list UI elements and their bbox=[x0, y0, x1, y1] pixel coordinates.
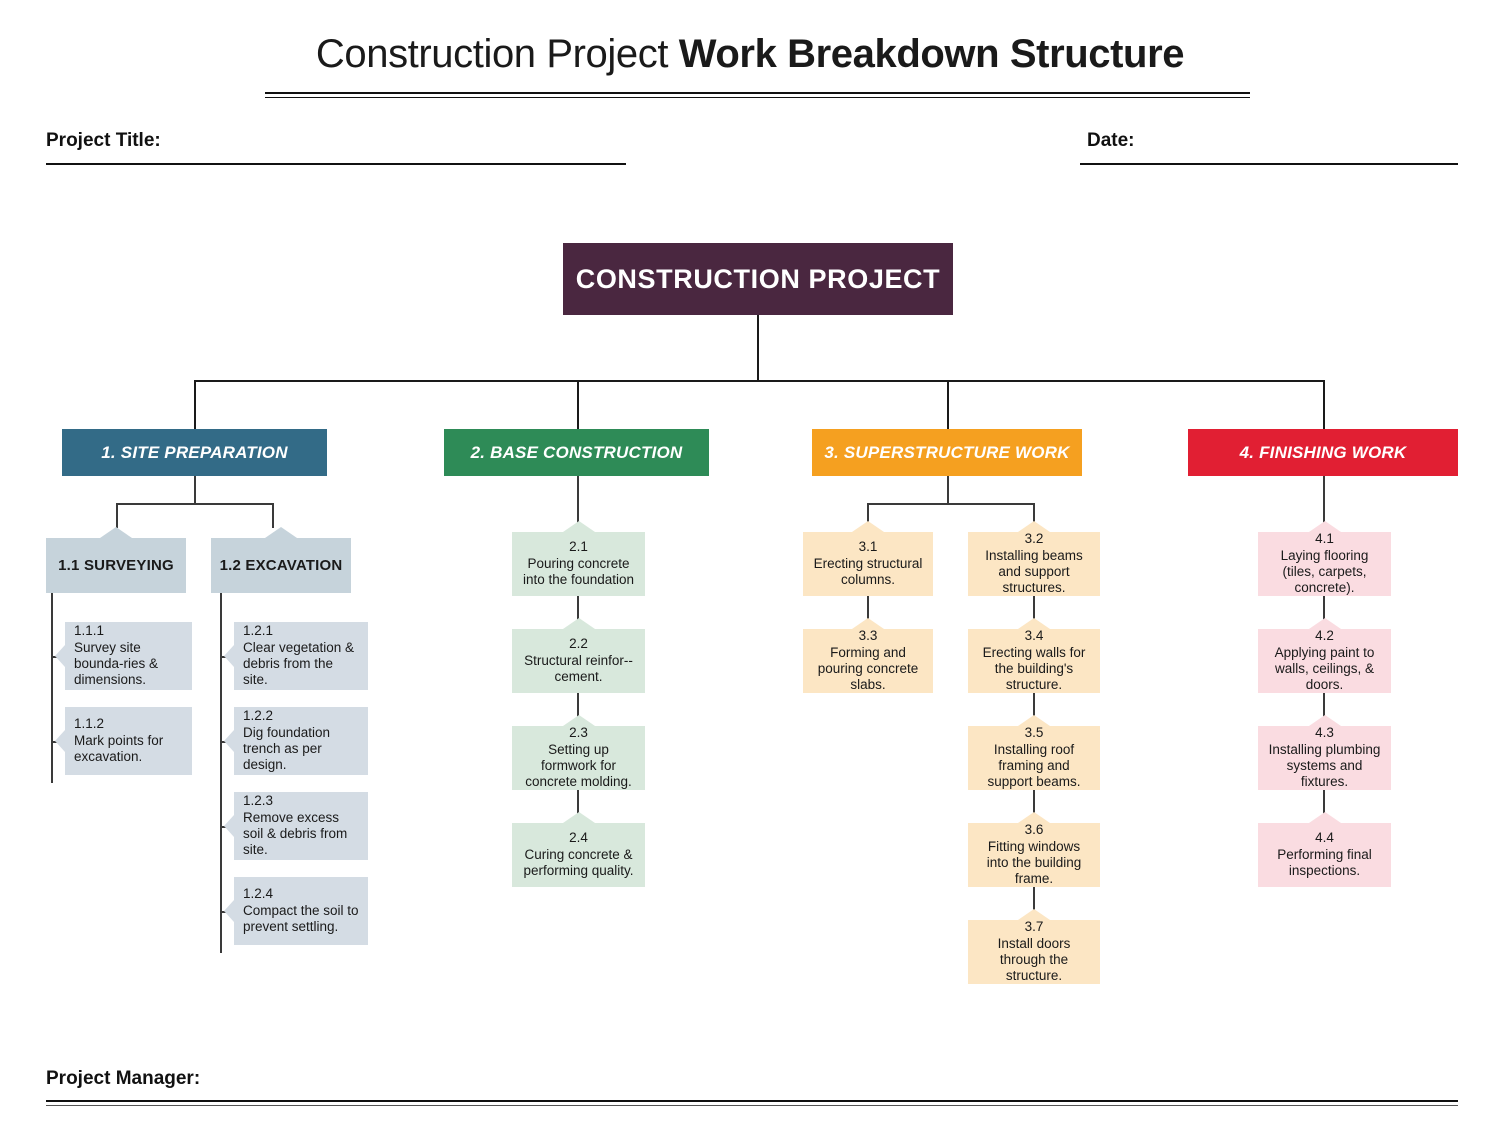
notch-up-icon bbox=[1309, 618, 1341, 629]
task-2-3-desc: Setting up formwork for concrete molding… bbox=[521, 742, 636, 791]
task-3-3-desc: Forming and pouring concrete slabs. bbox=[812, 645, 924, 694]
task-4-3[interactable]: 4.3 Installing plumbing systems and fixt… bbox=[1258, 726, 1391, 790]
connector-root-drop bbox=[757, 315, 759, 381]
project-manager-input[interactable] bbox=[46, 1100, 1458, 1102]
task-1-1-1[interactable]: 1.1.1 Survey site bounda-­ries & dimensi… bbox=[65, 622, 192, 690]
task-3-1-desc: Erecting structural columns. bbox=[812, 556, 924, 589]
task-1-2-2-num: 1.2.2 bbox=[243, 708, 273, 724]
spine-1-2 bbox=[220, 593, 222, 953]
branch-finishing-work[interactable]: 4. FINISHING WORK bbox=[1188, 429, 1458, 476]
task-4-2-num: 4.2 bbox=[1315, 628, 1334, 644]
project-title-input[interactable] bbox=[46, 163, 626, 165]
branch-site-preparation[interactable]: 1. SITE PREPARATION bbox=[62, 429, 327, 476]
spine-1-1 bbox=[51, 593, 53, 783]
task-3-1-num: 3.1 bbox=[859, 539, 878, 555]
notch-up-icon bbox=[1309, 812, 1341, 823]
connector-b3-bus bbox=[867, 503, 1034, 505]
notch-up-icon bbox=[563, 618, 595, 629]
project-title-label: Project Title: bbox=[46, 130, 161, 152]
task-2-3-num: 2.3 bbox=[569, 725, 588, 741]
task-2-3[interactable]: 2.3 Setting up formwork for concrete mol… bbox=[512, 726, 645, 790]
task-2-4-num: 2.4 bbox=[569, 830, 588, 846]
wbs-sheet: Construction Project Work Breakdown Stru… bbox=[0, 0, 1500, 1125]
connector-branch3-drop bbox=[947, 380, 949, 429]
task-3-6-num: 3.6 bbox=[1025, 822, 1044, 838]
task-3-7-desc: Install doors through the structure. bbox=[977, 936, 1091, 985]
task-1-2-2-desc: Dig foundation trench as per design. bbox=[243, 725, 359, 774]
task-4-4[interactable]: 4.4 Performing final inspections. bbox=[1258, 823, 1391, 887]
notch-up-icon bbox=[1018, 812, 1050, 823]
project-manager-rule-2 bbox=[46, 1105, 1458, 1106]
group-1-2-excavation[interactable]: 1.2 EXCAVATION bbox=[211, 538, 351, 593]
task-3-5-num: 3.5 bbox=[1025, 725, 1044, 741]
task-1-2-4-num: 1.2.4 bbox=[243, 886, 273, 902]
task-4-4-num: 4.4 bbox=[1315, 830, 1334, 846]
task-1-2-3-desc: Remove excess soil & debris from site. bbox=[243, 810, 359, 859]
notch-up-icon bbox=[852, 521, 884, 532]
notch-up-icon bbox=[1018, 715, 1050, 726]
task-4-4-desc: Performing final inspections. bbox=[1267, 847, 1382, 880]
task-1-2-4-desc: Compact the soil to prevent settling. bbox=[243, 903, 359, 936]
group-1-2-label: 1.2 EXCAVATION bbox=[220, 557, 343, 574]
task-3-2-num: 3.2 bbox=[1025, 531, 1044, 547]
task-3-5[interactable]: 3.5 Installing roof framing and support … bbox=[968, 726, 1100, 790]
date-input[interactable] bbox=[1080, 163, 1458, 165]
notch-up-icon bbox=[1018, 521, 1050, 532]
task-2-1-desc: Pouring concrete into the foundation bbox=[521, 556, 636, 589]
title-rule-top bbox=[265, 92, 1250, 94]
notch-up-icon bbox=[563, 715, 595, 726]
page-title-bold: Work Breakdown Structure bbox=[679, 32, 1184, 76]
project-manager-label: Project Manager: bbox=[46, 1068, 200, 1090]
task-1-2-1-desc: Clear vegetation & debris from the site. bbox=[243, 640, 359, 689]
notch-left-icon bbox=[224, 645, 234, 667]
task-1-1-2-num: 1.1.2 bbox=[74, 716, 104, 732]
root-node-label: CONSTRUCTION PROJECT bbox=[576, 264, 941, 295]
notch-up-icon bbox=[563, 812, 595, 823]
task-3-1[interactable]: 3.1 Erecting structural columns. bbox=[803, 532, 933, 596]
notch-left-icon bbox=[55, 645, 65, 667]
task-4-2[interactable]: 4.2 Applying paint to walls, ceilings, &… bbox=[1258, 629, 1391, 693]
notch-up-icon bbox=[1309, 715, 1341, 726]
task-3-6[interactable]: 3.6 Fitting windows into the building fr… bbox=[968, 823, 1100, 887]
connector-level1-bus bbox=[194, 380, 1324, 382]
notch-up-icon bbox=[1309, 521, 1341, 532]
task-4-3-num: 4.3 bbox=[1315, 725, 1334, 741]
branch-superstructure-work[interactable]: 3. SUPERSTRUCTURE WORK bbox=[812, 429, 1082, 476]
notch-up-icon bbox=[563, 521, 595, 532]
task-3-3-num: 3.3 bbox=[859, 628, 878, 644]
task-3-6-desc: Fitting windows into the building frame. bbox=[977, 839, 1091, 888]
task-4-1[interactable]: 4.1 Laying flooring (tiles, carpets, con… bbox=[1258, 532, 1391, 596]
branch-base-construction-label: 2. BASE CONSTRUCTION bbox=[471, 443, 683, 463]
branch-superstructure-work-label: 3. SUPERSTRUCTURE WORK bbox=[824, 443, 1069, 463]
task-3-2[interactable]: 3.2 Installing beams and support structu… bbox=[968, 532, 1100, 596]
title-rule-bottom bbox=[265, 97, 1250, 98]
task-1-1-2[interactable]: 1.1.2 Mark points for excavation. bbox=[65, 707, 192, 775]
connector-b1-g2-drop bbox=[272, 503, 274, 528]
date-label: Date: bbox=[1087, 130, 1135, 152]
notch-left-icon bbox=[55, 730, 65, 752]
task-3-3[interactable]: 3.3 Forming and pouring concrete slabs. bbox=[803, 629, 933, 693]
notch-left-icon bbox=[224, 730, 234, 752]
task-3-2-desc: Installing beams and support structures. bbox=[977, 548, 1091, 597]
task-4-1-desc: Laying flooring (tiles, carpets, concret… bbox=[1267, 548, 1382, 597]
task-3-4-desc: Erecting walls for the building's struct… bbox=[977, 645, 1091, 694]
page-title: Construction Project Work Breakdown Stru… bbox=[0, 32, 1500, 77]
branch-finishing-work-label: 4. FINISHING WORK bbox=[1240, 443, 1407, 463]
page-title-light: Construction Project bbox=[316, 32, 679, 76]
task-4-3-desc: Installing plumbing systems and fixtures… bbox=[1267, 742, 1382, 791]
group-1-1-label: 1.1 SURVEYING bbox=[58, 557, 174, 574]
connector-b3-drop bbox=[947, 476, 949, 504]
group-1-1-surveying[interactable]: 1.1 SURVEYING bbox=[46, 538, 186, 593]
task-2-4-desc: Curing concrete & performing quality. bbox=[521, 847, 636, 880]
notch-left-icon bbox=[224, 900, 234, 922]
task-3-4[interactable]: 3.4 Erecting walls for the building's st… bbox=[968, 629, 1100, 693]
task-1-2-3[interactable]: 1.2.3 Remove excess soil & debris from s… bbox=[234, 792, 368, 860]
task-2-2[interactable]: 2.2 Structural reinfor-­cement. bbox=[512, 629, 645, 693]
task-1-2-2[interactable]: 1.2.2 Dig foundation trench as per desig… bbox=[234, 707, 368, 775]
task-4-1-num: 4.1 bbox=[1315, 531, 1334, 547]
notch-up-icon bbox=[852, 618, 884, 629]
connector-branch2-drop bbox=[577, 380, 579, 429]
task-2-2-num: 2.2 bbox=[569, 636, 588, 652]
root-node[interactable]: CONSTRUCTION PROJECT bbox=[563, 243, 953, 315]
task-3-7-num: 3.7 bbox=[1025, 919, 1044, 935]
task-3-7[interactable]: 3.7 Install doors through the structure. bbox=[968, 920, 1100, 984]
connector-branch1-drop bbox=[194, 380, 196, 429]
task-1-2-3-num: 1.2.3 bbox=[243, 793, 273, 809]
connector-b1-drop bbox=[194, 476, 196, 504]
task-1-1-1-num: 1.1.1 bbox=[74, 623, 104, 639]
notch-up-icon bbox=[265, 527, 297, 538]
connector-b1-g1-drop bbox=[116, 503, 118, 528]
connector-branch4-drop bbox=[1323, 380, 1325, 429]
task-1-2-4[interactable]: 1.2.4 Compact the soil to prevent settli… bbox=[234, 877, 368, 945]
notch-up-icon bbox=[100, 527, 132, 538]
task-1-2-1-num: 1.2.1 bbox=[243, 623, 273, 639]
task-2-2-desc: Structural reinfor-­cement. bbox=[521, 653, 636, 686]
notch-up-icon bbox=[1018, 618, 1050, 629]
task-4-2-desc: Applying paint to walls, ceilings, & doo… bbox=[1267, 645, 1382, 694]
task-3-4-num: 3.4 bbox=[1025, 628, 1044, 644]
task-1-2-1[interactable]: 1.2.1 Clear vegetation & debris from the… bbox=[234, 622, 368, 690]
task-2-4[interactable]: 2.4 Curing concrete & performing quality… bbox=[512, 823, 645, 887]
connector-b1-bus bbox=[116, 503, 273, 505]
notch-up-icon bbox=[1018, 909, 1050, 920]
branch-base-construction[interactable]: 2. BASE CONSTRUCTION bbox=[444, 429, 709, 476]
task-2-1[interactable]: 2.1 Pouring concrete into the foundation bbox=[512, 532, 645, 596]
task-3-5-desc: Installing roof framing and support beam… bbox=[977, 742, 1091, 791]
task-1-1-1-desc: Survey site bounda-­ries & dimensions. bbox=[74, 640, 183, 689]
task-1-1-2-desc: Mark points for excavation. bbox=[74, 733, 183, 766]
notch-left-icon bbox=[224, 815, 234, 837]
branch-site-preparation-label: 1. SITE PREPARATION bbox=[101, 443, 287, 463]
task-2-1-num: 2.1 bbox=[569, 539, 588, 555]
